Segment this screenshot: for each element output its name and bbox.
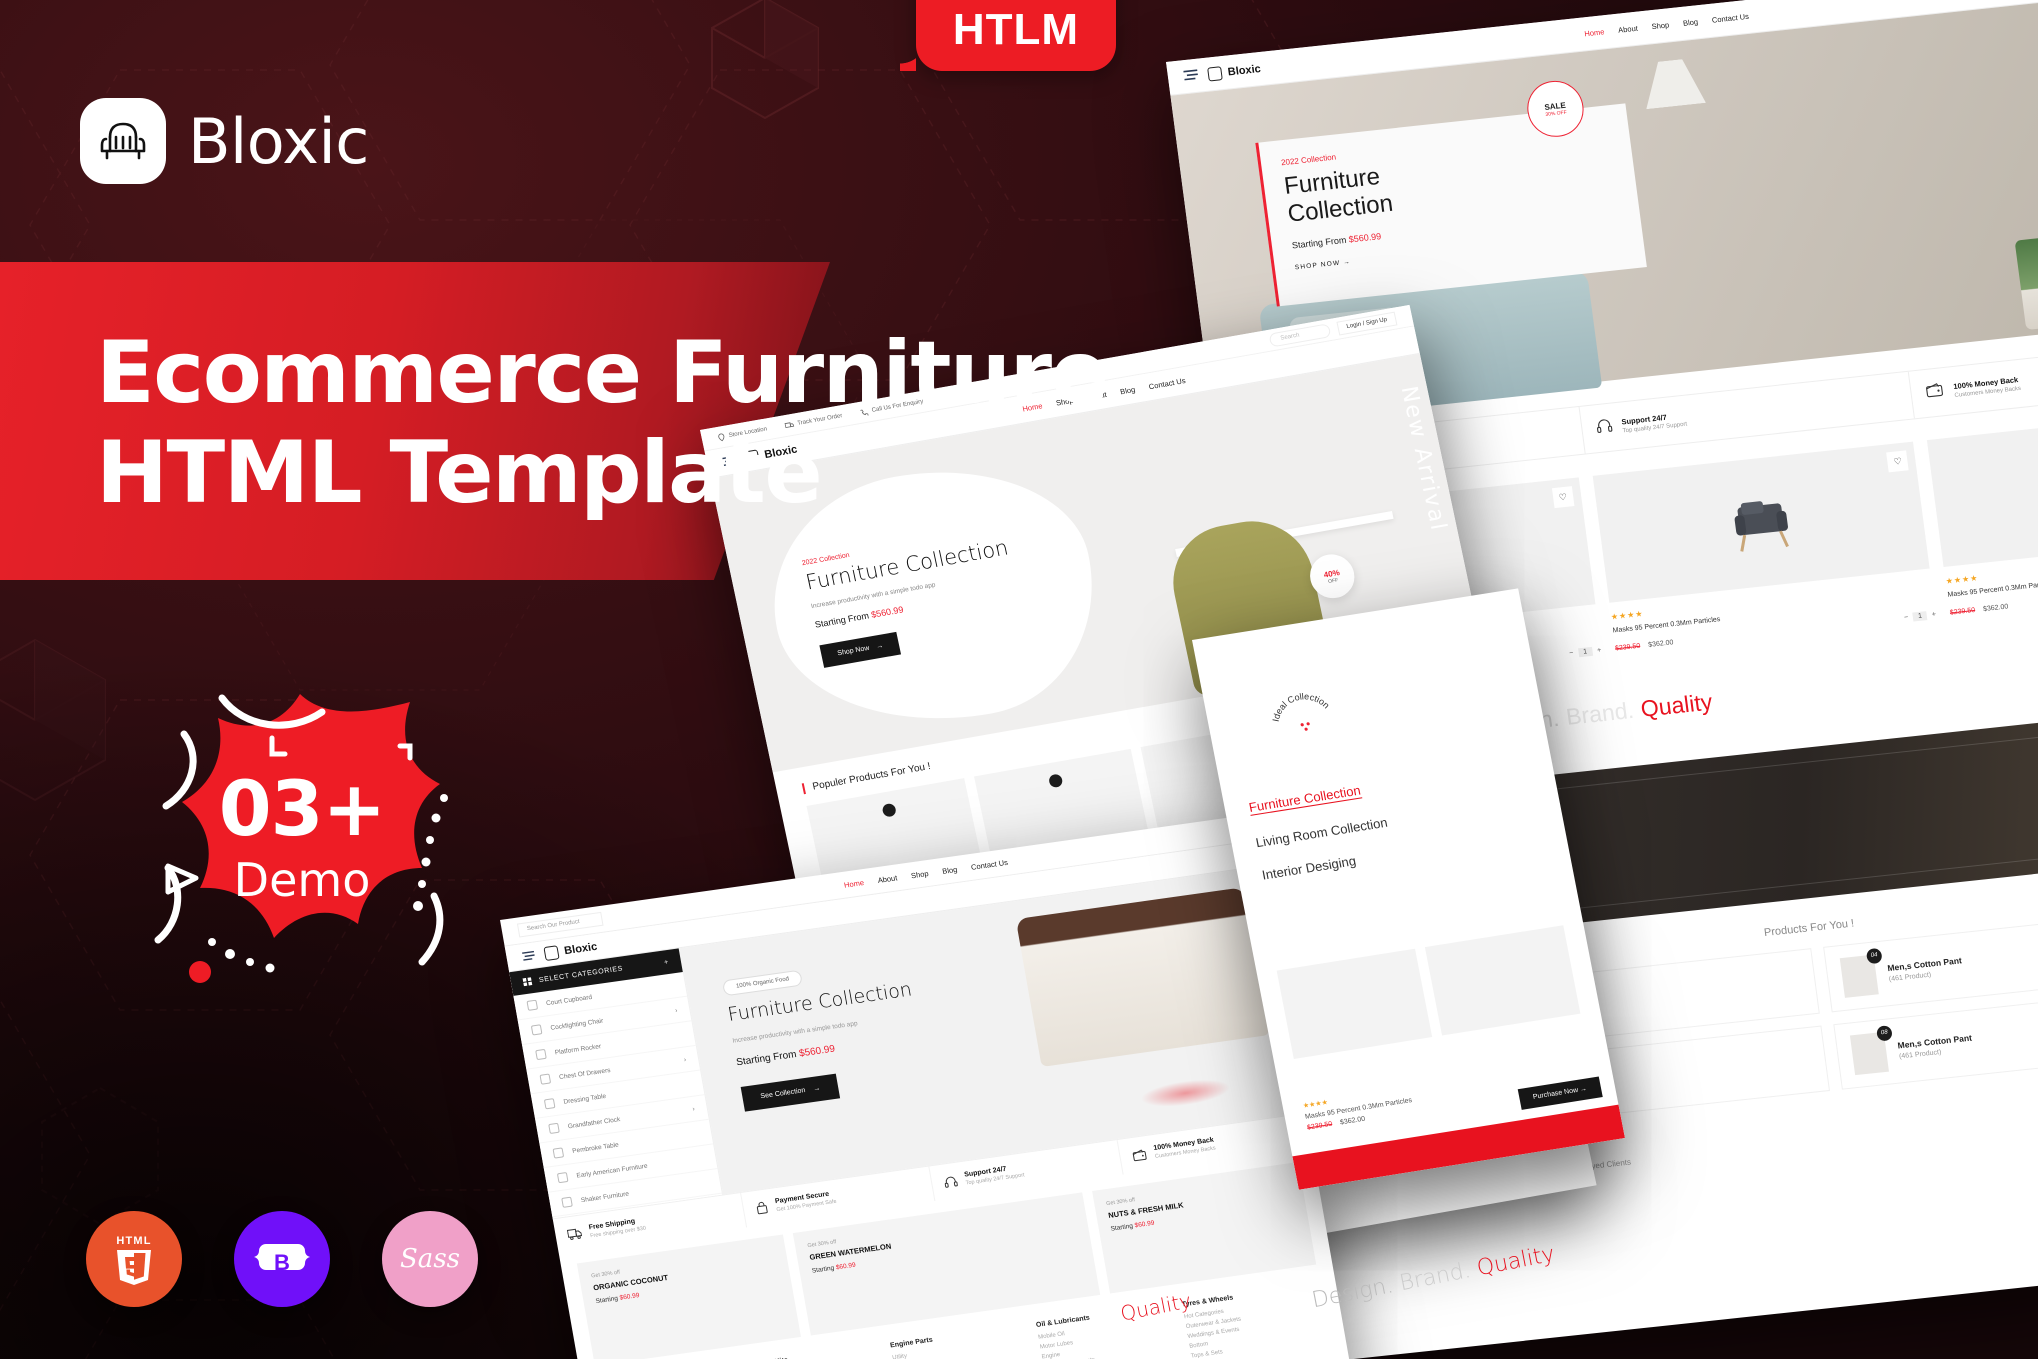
brand-lockup: Bloxic [80, 98, 369, 184]
html5-icon: HTML [86, 1211, 182, 1307]
category-icon [548, 1123, 560, 1134]
promo-card[interactable]: Get 30% off NUTS & FRESH MILK Starting $… [1092, 1162, 1316, 1293]
hamburger-icon[interactable] [1183, 66, 1199, 85]
product-card[interactable]: ♡ ★★★★ Masks 95 Percent 0.3Mm Particles … [1927, 406, 2038, 618]
category-icon [553, 1147, 565, 1158]
brand-name: Bloxic [188, 105, 369, 178]
htlm-badge-label: HTLM [953, 5, 1079, 55]
sale-pct: 30% OFF [1545, 109, 1567, 117]
discount-off: OFF [1328, 577, 1339, 585]
product-image: ♡ [1592, 442, 1930, 603]
hero-price: $560.99 [798, 1044, 836, 1060]
headline-line-1: Ecommerce Furniture [96, 330, 1107, 418]
see-collection-button[interactable]: See Collection → [741, 1074, 841, 1112]
promo-background: Bloxic HTLM Ecommerce Furniture HTML Tem… [0, 0, 2038, 1359]
category-icon [526, 1000, 538, 1011]
sass-icon: Sass [382, 1211, 478, 1307]
promo-price: $60.99 [1134, 1220, 1155, 1230]
headset-icon [1595, 417, 1614, 440]
product-image: ♡ [1927, 406, 2038, 567]
htlm-badge: HTLM [916, 0, 1116, 71]
qty-decrement[interactable]: − [1904, 614, 1909, 621]
mock-c-logo-text: Bloxic [563, 940, 598, 956]
wallet-icon [1131, 1148, 1147, 1162]
nav-item-contact[interactable]: Contact Us [1711, 12, 1749, 25]
category-icon [540, 1074, 552, 1085]
svg-text:B: B [274, 1250, 290, 1275]
item-number: 04 [1866, 948, 1883, 964]
feature-money-back: 100% Money Back Customers Money Backs [1909, 337, 2038, 419]
promo-price: $60.99 [619, 1292, 640, 1302]
lock-icon [755, 1200, 769, 1214]
tagline-word-3: Quality [1639, 689, 1714, 722]
product-thumb[interactable] [1277, 949, 1433, 1059]
hamburger-icon[interactable] [521, 946, 536, 965]
armchair-icon [1207, 66, 1223, 81]
promo-price: $60.99 [835, 1262, 856, 1272]
ideal-collection-badge: Ideal Collection [1262, 684, 1349, 768]
hero-pill: 100% Organic Food [722, 970, 803, 997]
mock-a-logo-text: Bloxic [1227, 63, 1261, 78]
nav-item-contact[interactable]: Contact Us [970, 857, 1008, 871]
mock-a-nav[interactable]: Home About Shop Blog Contact Us [1584, 12, 1750, 38]
bed-image [1016, 887, 1270, 1067]
wishlist-heart-icon[interactable]: ♡ [1552, 486, 1575, 508]
headline-line-2: HTML Template [96, 430, 1107, 518]
qty-increment[interactable]: + [1932, 611, 1937, 618]
product-thumbnail: 08 [1850, 1032, 1889, 1075]
qty-decrement[interactable]: − [1569, 650, 1574, 657]
mock-c-logo[interactable]: Bloxic [543, 939, 598, 960]
product-card[interactable]: ♡ ★★★★ Masks 95 Percent 0.3Mm Particles … [1592, 442, 1936, 654]
plant-image [2015, 234, 2038, 330]
svg-text:Sass: Sass [400, 1244, 460, 1274]
hero-price: $560.99 [1348, 231, 1382, 244]
product-thumb[interactable] [1425, 925, 1581, 1035]
bootstrap-icon: B [234, 1211, 330, 1307]
nav-item-home[interactable]: Home [843, 878, 864, 890]
nav-item-blog[interactable]: Blog [1682, 17, 1698, 28]
collection-link-1[interactable]: Furniture Collection [1248, 783, 1362, 816]
tile-badge [881, 803, 897, 818]
promo-price-prefix: Starting [1110, 1223, 1133, 1233]
product-thumbnail: 04 [1840, 954, 1879, 997]
glow-decor [1139, 1075, 1232, 1111]
wishlist-heart-icon[interactable]: ♡ [1886, 450, 1909, 472]
hero-price-prefix: Starting From [735, 1049, 797, 1068]
category-icon [535, 1049, 547, 1060]
nav-item-shop[interactable]: Shop [910, 868, 929, 879]
nav-item-home[interactable]: Home [1584, 27, 1605, 38]
qty-increment[interactable]: + [1597, 647, 1602, 654]
nav-item-about[interactable]: About [877, 873, 898, 885]
promo-card[interactable]: Get 30% off ORGANIC COCONUT Starting $60… [577, 1234, 801, 1359]
pfy-title: Products For You ! [1763, 917, 1855, 939]
nav-item-shop[interactable]: Shop [1651, 20, 1670, 31]
cube-decor-top [700, 0, 830, 140]
nav-item-blog[interactable]: Blog [1119, 385, 1136, 396]
category-icon [531, 1024, 543, 1035]
lamp-decor [1640, 57, 1706, 109]
hero-price-prefix: Starting From [814, 610, 870, 629]
mock-a-logo[interactable]: Bloxic [1207, 62, 1262, 82]
item-number: 08 [1876, 1025, 1893, 1041]
hero-sub: Increase productivity with a simple todo… [732, 1020, 858, 1044]
category-icon [544, 1098, 556, 1109]
tagline-word-2: Brand. [1565, 697, 1636, 730]
promo-price-prefix: Starting [595, 1295, 618, 1305]
grid-icon [522, 977, 532, 986]
headset-icon [943, 1174, 958, 1188]
truck-icon [567, 1228, 583, 1241]
nav-item-contact[interactable]: Contact Us [1148, 376, 1186, 391]
demo-count-badge: 03+ Demo [122, 672, 482, 1002]
svg-text:Ideal Collection: Ideal Collection [1266, 687, 1333, 724]
hero-card: 2022 Collection Furniture Collection Sta… [1255, 103, 1647, 306]
nav-item-about[interactable]: About [1618, 24, 1639, 35]
category-icon [557, 1172, 569, 1183]
page-title: Ecommerce Furniture HTML Template [96, 330, 1107, 517]
nav-item-blog[interactable]: Blog [941, 864, 957, 875]
panel-price: $362.00 [1339, 1116, 1365, 1127]
panel-rating: ★★★★ [1302, 1099, 1328, 1110]
panel-old-price: $239.50 [1307, 1121, 1333, 1132]
tech-stack-icons: HTML B Sass [86, 1211, 478, 1307]
category-icon [561, 1197, 573, 1208]
wallet-icon [1925, 381, 1946, 404]
armchair-icon [543, 945, 559, 961]
promo-price-prefix: Starting [811, 1265, 834, 1275]
hero-price: $560.99 [870, 604, 904, 619]
armchair-icon [80, 98, 166, 184]
tile-badge [1048, 773, 1064, 788]
hero-price-prefix: Starting From [1291, 235, 1347, 251]
svg-text:HTML: HTML [116, 1235, 151, 1247]
